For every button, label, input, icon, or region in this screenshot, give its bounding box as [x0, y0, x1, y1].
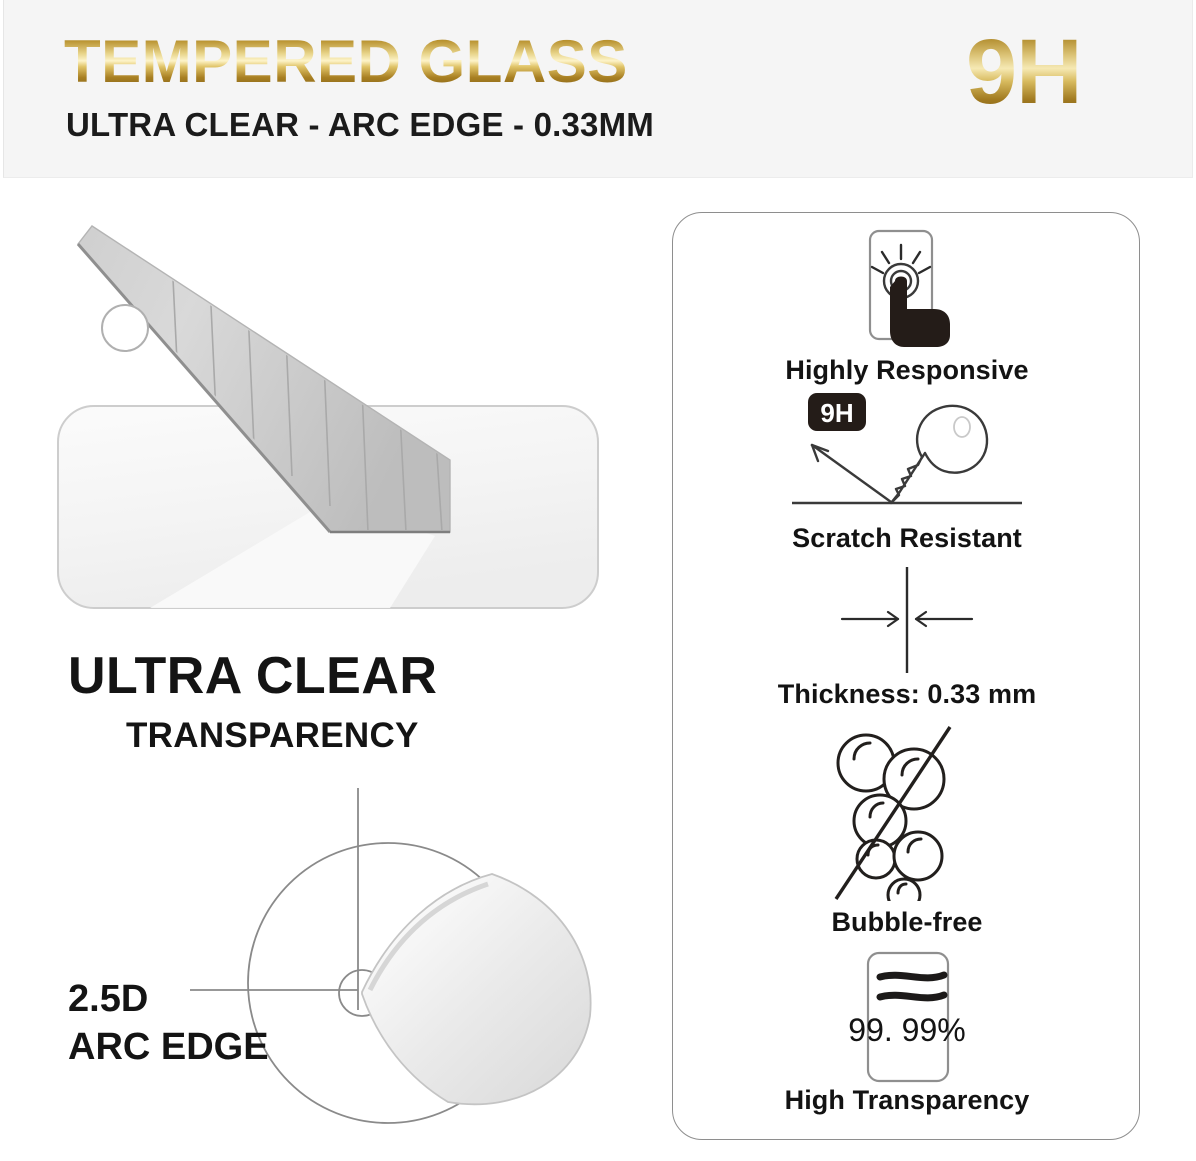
- arc-edge-magnifier-icon: [40, 778, 660, 1128]
- transparency-percent-text: 99. 99%: [848, 1012, 965, 1048]
- feature-high-transparency: 99. 99% High Transparency: [673, 949, 1141, 1116]
- feature-highly-responsive: Highly Responsive: [673, 225, 1141, 386]
- thickness-arrows-icon: [802, 561, 1012, 679]
- product-infographic: TEMPERED GLASS ULTRA CLEAR - ARC EDGE - …: [0, 0, 1196, 1161]
- arc-edge-glass-shape: [362, 874, 591, 1104]
- feature-label: Highly Responsive: [673, 355, 1141, 386]
- touch-phone-hand-icon: [842, 225, 972, 349]
- left-column: ULTRA CLEAR TRANSPARENCY: [0, 178, 660, 1161]
- transparency-subheading: TRANSPARENCY: [126, 716, 419, 756]
- key-scratch-icon: 9H: [772, 389, 1042, 517]
- features-panel: Highly Responsive 9H S: [672, 212, 1140, 1140]
- arc-edge-label-line1: 2.5D: [68, 978, 148, 1021]
- feature-bubble-free: Bubble-free: [673, 723, 1141, 938]
- feature-thickness: Thickness: 0.33 mm: [673, 561, 1141, 710]
- feature-label: Scratch Resistant: [673, 523, 1141, 554]
- feature-label: Thickness: 0.33 mm: [673, 679, 1141, 710]
- ultra-clear-heading: ULTRA CLEAR: [68, 646, 437, 706]
- header-band: TEMPERED GLASS ULTRA CLEAR - ARC EDGE - …: [3, 0, 1193, 178]
- utility-blade-icon: [30, 200, 650, 620]
- transparency-phone-icon: 99. 99%: [802, 949, 1012, 1085]
- feature-label: High Transparency: [673, 1085, 1141, 1116]
- feature-label: Bubble-free: [673, 907, 1141, 938]
- hardness-badge-9h: 9H: [966, 26, 1082, 118]
- bubbles-crossed-icon: [802, 723, 1012, 901]
- page-title: TEMPERED GLASS: [64, 32, 628, 92]
- feature-scratch-resistant: 9H Scratch Resistant: [673, 389, 1141, 554]
- arc-edge-label-line2: ARC EDGE: [68, 1026, 269, 1069]
- page-subtitle: ULTRA CLEAR - ARC EDGE - 0.33MM: [66, 106, 654, 144]
- scratch-9h-badge-text: 9H: [820, 398, 853, 428]
